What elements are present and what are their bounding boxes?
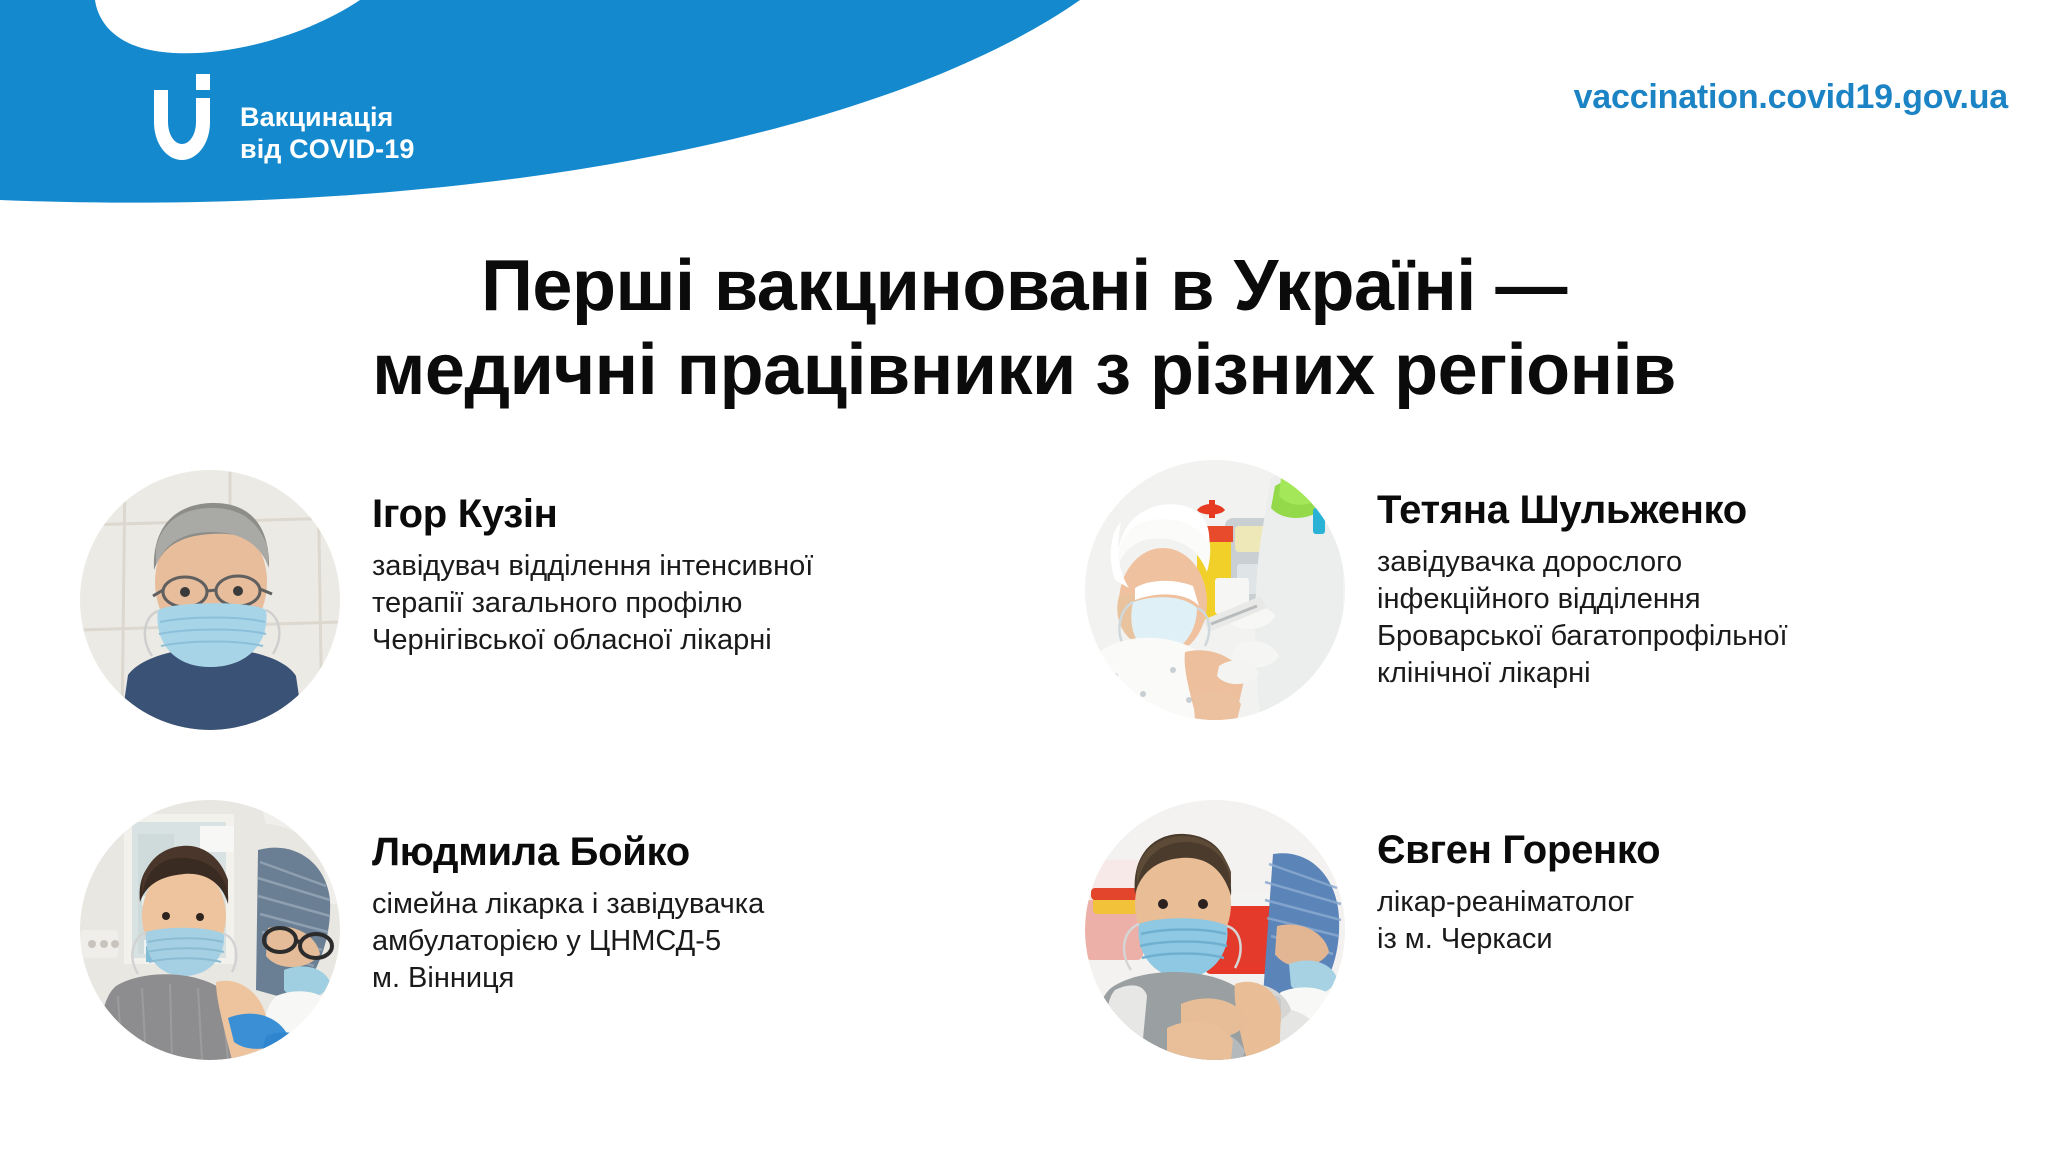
portrait-woman-grey-sweater-vaccination: [80, 800, 340, 1060]
person-role-line: лікар-реаніматолог: [1377, 884, 1985, 921]
person-role-line: завідувачка дорослого: [1377, 544, 1985, 581]
person-role-line: Чернігівської обласної лікарні: [372, 622, 980, 659]
v-checkmark-logo-icon: [148, 72, 224, 168]
page-header: Вакцинація від COVID-19 vaccination.covi…: [0, 0, 2048, 230]
page-title: Перші вакциновані в Україні — медичні пр…: [0, 245, 2048, 412]
person-card: Людмила Бойко сімейна лікарка і завідува…: [80, 800, 980, 1060]
person-card: Тетяна Шульженко завідувачка дорослого і…: [1085, 460, 1985, 720]
person-name: Людмила Бойко: [372, 830, 980, 874]
person-name: Ігор Кузін: [372, 492, 980, 536]
person-info: Людмила Бойко сімейна лікарка і завідува…: [340, 800, 980, 997]
person-name: Тетяна Шульженко: [1377, 488, 1985, 532]
avatar: [80, 800, 340, 1060]
person-role: лікар-реаніматолог із м. Черкаси: [1377, 884, 1985, 958]
person-role: завідувачка дорослого інфекційного відді…: [1377, 544, 1985, 692]
person-role-line: терапії загального профілю: [372, 585, 980, 622]
person-card: Ігор Кузін завідувач відділення інтенсив…: [80, 470, 980, 730]
portrait-man-grey-uniform-vaccination: [1085, 800, 1345, 1060]
portrait-doctor-glasses-mask: [80, 470, 340, 730]
person-role: завідувач відділення інтенсивної терапії…: [372, 548, 980, 659]
person-role: сімейна лікарка і завідувачка амбулаторі…: [372, 886, 980, 997]
person-info: Євген Горенко лікар-реаніматолог із м. Ч…: [1345, 800, 1985, 958]
avatar: [80, 470, 340, 730]
brand-logo-text: Вакцинація від COVID-19: [240, 75, 414, 166]
person-role-line: із м. Черкаси: [1377, 921, 1985, 958]
person-role-line: Броварської багатопрофільної: [1377, 618, 1985, 655]
person-role-line: клінічної лікарні: [1377, 655, 1985, 692]
brand-logo: Вакцинація від COVID-19: [148, 72, 414, 168]
brand-logo-line-2: від COVID-19: [240, 133, 414, 165]
person-name: Євген Горенко: [1377, 828, 1985, 872]
person-role-line: сімейна лікарка і завідувачка: [372, 886, 980, 923]
person-info: Тетяна Шульженко завідувачка дорослого і…: [1345, 460, 1985, 692]
page-title-line-2: медичні працівники з різних регіонів: [0, 329, 2048, 413]
person-role-line: амбулаторією у ЦНМСД-5: [372, 923, 980, 960]
people-grid: Ігор Кузін завідувач відділення інтенсив…: [0, 460, 2048, 1140]
portrait-woman-receiving-vaccine: [1085, 460, 1345, 720]
person-role-line: м. Вінниця: [372, 960, 980, 997]
avatar: [1085, 800, 1345, 1060]
avatar: [1085, 460, 1345, 720]
site-url-link[interactable]: vaccination.covid19.gov.ua: [1574, 78, 2008, 117]
person-role-line: інфекційного відділення: [1377, 581, 1985, 618]
person-info: Ігор Кузін завідувач відділення інтенсив…: [340, 470, 980, 659]
person-card: Євген Горенко лікар-реаніматолог із м. Ч…: [1085, 800, 1985, 1060]
person-role-line: завідувач відділення інтенсивної: [372, 548, 980, 585]
page-title-line-1: Перші вакциновані в Україні —: [0, 245, 2048, 329]
brand-logo-line-1: Вакцинація: [240, 101, 414, 133]
